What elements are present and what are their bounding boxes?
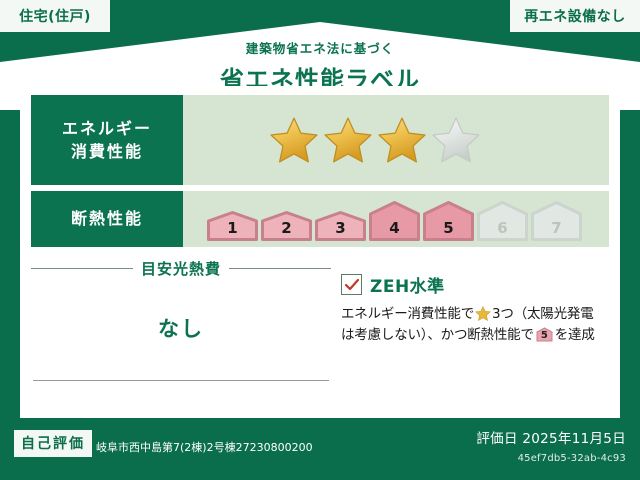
footer: 自己評価 岐阜市西中島第7(2棟)2号棟27230800200 評価日 2025…: [0, 418, 640, 480]
zeh-desc-part1: エネルギー消費性能で: [341, 306, 474, 322]
row-insulation-body: 1234567: [183, 191, 609, 247]
row-insulation: 断熱性能 1234567: [31, 191, 609, 247]
insulation-level-number: 6: [477, 219, 528, 237]
row-insulation-label-text: 断熱性能: [71, 207, 143, 230]
zeh-desc-part3: を達成: [555, 327, 595, 343]
star-rating: [269, 116, 481, 164]
utility-cost-heading: 目安光熱費: [31, 258, 331, 279]
insulation-level-7: 7: [531, 201, 582, 241]
zeh-desc-part2: は考慮しない）、かつ断熱性能で: [341, 327, 534, 343]
zeh-description: エネルギー消費性能で3つ（太陽光発電は考慮しない）、かつ断熱性能で5を達成: [341, 304, 609, 346]
insulation-level-number: 2: [261, 219, 312, 237]
insulation-level-6: 6: [477, 201, 528, 241]
insulation-level-5: 5: [423, 201, 474, 241]
zeh-heading: ZEH水準: [341, 272, 609, 297]
evaluation-date: 評価日 2025年11月5日: [476, 427, 626, 447]
lower-section: 目安光熱費 なし ZEH水準 エネルギー消費性能で3つ（太陽光発電は考慮しな: [31, 254, 609, 406]
header-subtitle: 建築物省エネ法に基づく: [0, 38, 640, 57]
energy-performance-label: 住宅(住戸) 再エネ設備なし 建築物省エネ法に基づく 省エネ性能ラベル エネルギ…: [0, 0, 640, 480]
cost-rule-right: [229, 268, 331, 269]
insulation-level-3: 3: [315, 211, 366, 241]
lower-divider-rule: [33, 380, 329, 381]
insulation-level-number: 1: [207, 219, 258, 237]
cost-rule-left: [31, 268, 133, 269]
zeh-title: ZEH水準: [370, 272, 445, 297]
insulation-level-2: 2: [261, 211, 312, 241]
star-empty-icon: [431, 116, 481, 164]
zeh-checkbox: [341, 274, 362, 295]
zeh-desc-star-count: 3つ（太陽光発電: [492, 306, 594, 322]
insulation-level-1: 1: [207, 211, 258, 241]
insulation-level-number: 7: [531, 219, 582, 237]
self-evaluation-badge: 自己評価: [14, 430, 92, 457]
insulation-level-4: 4: [369, 201, 420, 241]
tag-housing-type-label: 住宅(住戸): [19, 6, 91, 26]
insulation-level-number: 5: [423, 219, 474, 237]
row-energy-consumption: エネルギー 消費性能: [31, 95, 609, 185]
tag-renewable-energy-label: 再エネ設備なし: [524, 6, 626, 26]
row-energy-body: [183, 95, 609, 185]
property-address: 岐阜市西中島第7(2棟)2号棟27230800200: [96, 439, 313, 455]
row-insulation-label: 断熱性能: [31, 191, 183, 247]
utility-cost-block: 目安光熱費 なし: [31, 254, 331, 406]
tag-housing-type: 住宅(住戸): [0, 0, 110, 32]
insulation-chip-number: 5: [536, 329, 553, 342]
insulation-level-number: 3: [315, 219, 366, 237]
utility-cost-heading-text: 目安光熱費: [141, 258, 221, 279]
star-filled-icon: [377, 116, 427, 164]
utility-cost-value: なし: [31, 313, 331, 343]
row-energy-label-line2: 消費性能: [71, 140, 143, 163]
insulation-bar-scale: 1234567: [207, 197, 582, 241]
row-energy-label-line1: エネルギー: [62, 117, 152, 140]
insulation-level-number: 4: [369, 219, 420, 237]
star-filled-icon: [269, 116, 319, 164]
check-icon: [345, 279, 359, 291]
row-energy-label: エネルギー 消費性能: [31, 95, 183, 185]
star-filled-icon: [475, 306, 491, 321]
insulation-chip-icon: 5: [536, 327, 553, 342]
tag-renewable-energy: 再エネ設備なし: [510, 0, 640, 32]
evaluation-id: 45ef7db5-32ab-4c93: [518, 453, 626, 464]
star-filled-icon: [323, 116, 373, 164]
zeh-block: ZEH水準 エネルギー消費性能で3つ（太陽光発電は考慮しない）、かつ断熱性能で5…: [341, 272, 609, 346]
label-panel: エネルギー 消費性能 断熱性能 1234567 目安光熱費: [20, 86, 620, 418]
